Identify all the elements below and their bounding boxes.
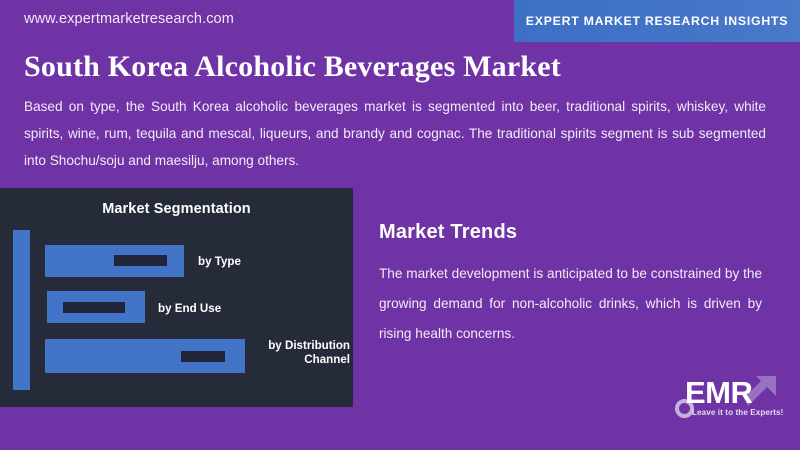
- intro-paragraph: Based on type, the South Korea alcoholic…: [24, 93, 766, 174]
- emr-tagline: Leave it to the Experts!: [692, 408, 783, 417]
- segmentation-notch-by-distribution-channel: [181, 351, 225, 362]
- segmentation-label-by-type: by Type: [198, 255, 318, 269]
- segmentation-axis-bar: [13, 230, 30, 390]
- segmentation-notch-by-end-use: [63, 302, 125, 313]
- site-url-text: www.expertmarketresearch.com: [24, 11, 234, 27]
- segmentation-notch-by-type: [114, 255, 167, 266]
- insights-banner: EXPERT MARKET RESEARCH INSIGHTS: [514, 0, 800, 42]
- segmentation-label-by-distribution-channel: by Distribution Channel: [254, 339, 350, 367]
- infographic-page: www.expertmarketresearch.com EXPERT MARK…: [0, 0, 800, 450]
- segmentation-title: Market Segmentation: [0, 201, 353, 217]
- emr-logo: EMR Leave it to the Experts!: [672, 366, 790, 432]
- segmentation-label-by-end-use: by End Use: [158, 302, 288, 316]
- insights-banner-label: EXPERT MARKET RESEARCH INSIGHTS: [526, 14, 788, 28]
- market-trends-heading: Market Trends: [379, 221, 517, 244]
- page-title: South Korea Alcoholic Beverages Market: [24, 50, 561, 84]
- market-trends-paragraph: The market development is anticipated to…: [379, 259, 762, 349]
- emr-wordmark: EMR: [685, 377, 752, 408]
